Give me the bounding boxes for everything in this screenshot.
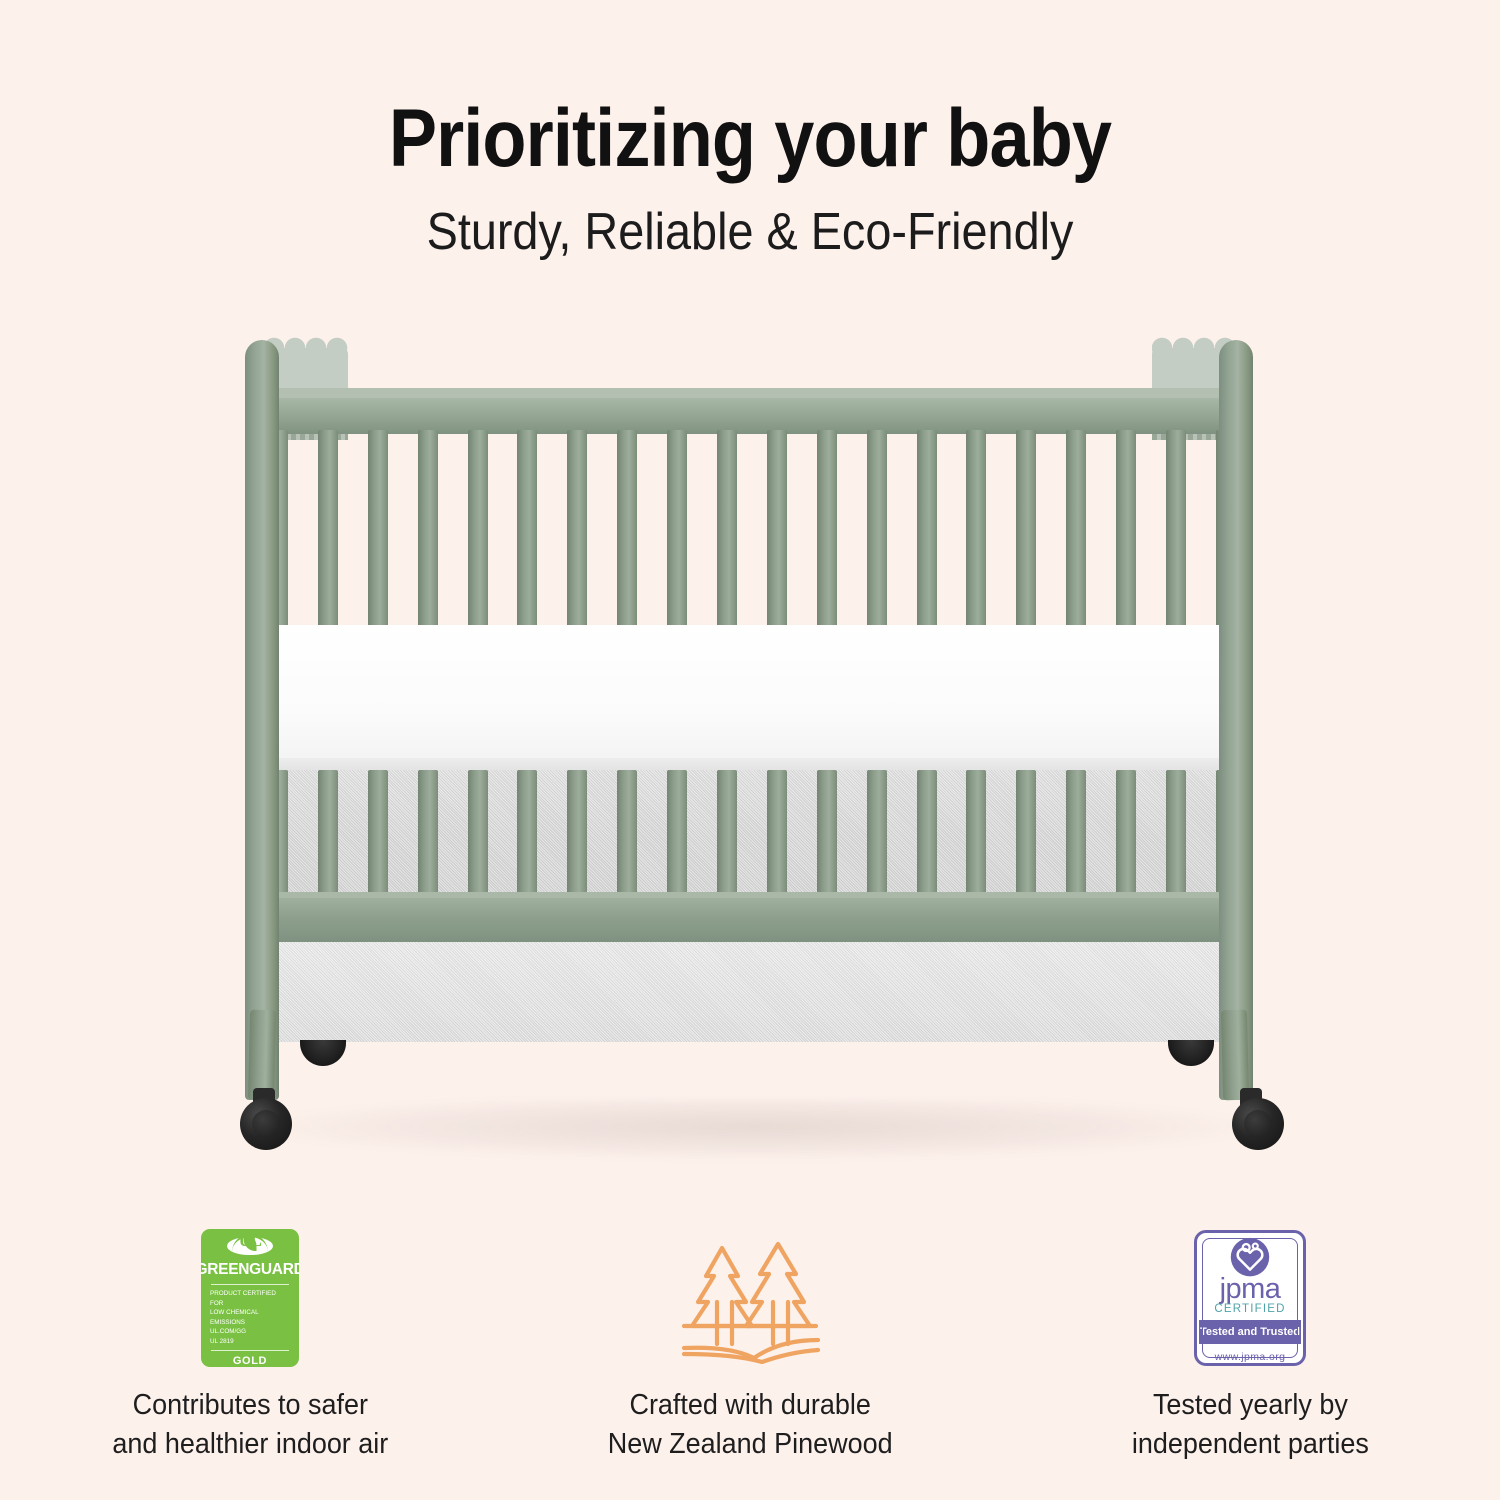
crib-slat xyxy=(567,770,587,900)
crib-leg-right xyxy=(1221,1010,1249,1101)
page-title: Prioritizing your baby xyxy=(90,98,1410,180)
crib-slat xyxy=(318,770,338,900)
product-marketing-image: Prioritizing your baby Sturdy, Reliable … xyxy=(0,0,1500,1500)
crib-mattress xyxy=(262,625,1242,770)
badge-jpma: jpma CERTIFIED Tested and Trusted www.jp… xyxy=(1000,1225,1500,1464)
header-block: Prioritizing your baby Sturdy, Reliable … xyxy=(0,98,1500,262)
crib-slat xyxy=(817,770,837,900)
crib-leg-left xyxy=(248,1010,276,1101)
caster-wheel-rear-right xyxy=(1168,1040,1214,1066)
crib-slat xyxy=(468,770,488,900)
badge-art: UL GREENGUARD PRODUCT CERTIFIED FOR LOW … xyxy=(201,1225,299,1370)
greenguard-level-label: GOLD xyxy=(233,1355,267,1367)
crib-slat xyxy=(1016,770,1036,900)
crib-slats-lower xyxy=(268,770,1236,900)
jpma-certified-label: CERTIFIED xyxy=(1214,1303,1285,1315)
crib-slat xyxy=(867,770,887,900)
crib-corner-post-left xyxy=(245,340,279,1100)
crib-slat xyxy=(1066,770,1086,900)
crib-slat xyxy=(917,770,937,900)
caster-wheel-front-right xyxy=(1232,1098,1284,1150)
jpma-tagline-band: Tested and Trusted xyxy=(1199,1320,1301,1343)
jpma-wordmark: jpma xyxy=(1220,1276,1281,1303)
greenguard-gold-icon: UL GREENGUARD PRODUCT CERTIFIED FOR LOW … xyxy=(201,1229,299,1367)
crib-slat xyxy=(1166,770,1186,900)
crib-bed-skirt-lower xyxy=(272,942,1232,1042)
crib-slat xyxy=(717,770,737,900)
crib-top-rail xyxy=(252,398,1252,434)
jpma-certified-icon: jpma CERTIFIED Tested and Trusted www.jp… xyxy=(1194,1230,1306,1366)
crib-slat xyxy=(667,770,687,900)
jpma-url-label: www.jpma.org xyxy=(1215,1351,1286,1363)
badge-caption-jpma: Tested yearly by independent parties xyxy=(1132,1386,1369,1464)
pine-trees-icon xyxy=(670,1232,830,1364)
badge-art xyxy=(670,1225,830,1370)
parent-child-heart-icon xyxy=(1227,1236,1273,1278)
crib-product-image xyxy=(0,310,1500,1170)
crib-slat xyxy=(1116,770,1136,900)
badge-greenguard: UL GREENGUARD PRODUCT CERTIFIED FOR LOW … xyxy=(0,1225,500,1464)
caster-wheel-front-left xyxy=(240,1098,292,1150)
crib-slat xyxy=(418,770,438,900)
page-subtitle: Sturdy, Reliable & Eco-Friendly xyxy=(75,202,1425,262)
greenguard-fine-print: PRODUCT CERTIFIED FOR LOW CHEMICAL EMISS… xyxy=(210,1289,290,1346)
ul-mark-icon: UL xyxy=(227,1237,273,1256)
certification-badges-row: UL GREENGUARD PRODUCT CERTIFIED FOR LOW … xyxy=(0,1225,1500,1464)
crib-slat xyxy=(966,770,986,900)
crib-slat xyxy=(517,770,537,900)
caster-wheel-rear-left xyxy=(300,1040,346,1066)
crib-slat xyxy=(767,770,787,900)
badge-caption-greenguard: Contributes to safer and healthier indoo… xyxy=(112,1386,388,1464)
greenguard-wordmark: GREENGUARD xyxy=(201,1261,299,1279)
crib-slat xyxy=(617,770,637,900)
badge-pinewood: Crafted with durable New Zealand Pinewoo… xyxy=(500,1225,1000,1464)
badge-art: jpma CERTIFIED Tested and Trusted www.jp… xyxy=(1194,1225,1306,1370)
crib-slat xyxy=(368,770,388,900)
crib-bottom-rail xyxy=(252,898,1252,944)
crib-corner-post-right xyxy=(1219,340,1253,1100)
badge-caption-pinewood: Crafted with durable New Zealand Pinewoo… xyxy=(608,1386,893,1464)
floor-shadow xyxy=(250,1100,1260,1160)
